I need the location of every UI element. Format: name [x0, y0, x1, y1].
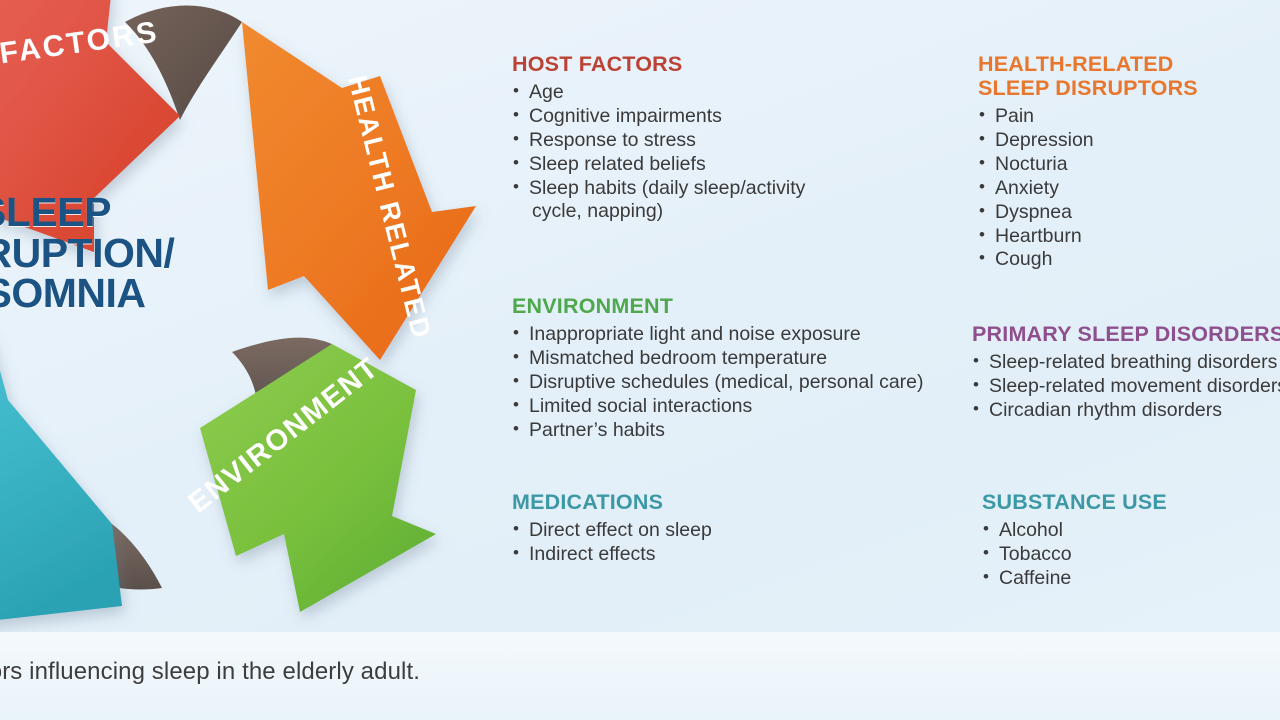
section-health-related-sleep-disruptors: HEALTH-RELATED SLEEP DISRUPTORS Pain Dep…	[978, 52, 1198, 272]
section-heading-substance-use: SUBSTANCE USE	[982, 490, 1167, 514]
figure-caption: tors influencing sleep in the elderly ad…	[0, 658, 420, 686]
list-item: Tobacco	[982, 543, 1167, 567]
sleep-cycle-diagram: HOST FACTORS HEALTH RELATED ENVIRONMENT …	[0, 0, 520, 660]
list-item: Alcohol	[982, 519, 1167, 543]
list-item: Pain	[978, 105, 1198, 129]
list-item: Cough	[978, 248, 1198, 272]
list-item: Partner’s habits	[512, 419, 924, 443]
arrow-medications	[0, 334, 122, 640]
list-item: Sleep-related movement disorders	[972, 375, 1280, 399]
center-title-line-2: DISRUPTION/	[0, 233, 210, 274]
list-item: Disruptive schedules (medical, personal …	[512, 371, 924, 395]
heading-line-2: SLEEP DISRUPTORS	[978, 76, 1198, 100]
list-item: Caffeine	[982, 567, 1167, 591]
list-item: Depression	[978, 129, 1198, 153]
list-substance-use: Alcohol Tobacco Caffeine	[982, 519, 1167, 591]
list-item: Sleep related beliefs	[512, 153, 805, 177]
list-health-related: Pain Depression Nocturia Anxiety Dyspnea…	[978, 105, 1198, 272]
list-item: Inappropriate light and noise exposure	[512, 323, 924, 347]
section-environment: ENVIRONMENT Inappropriate light and nois…	[512, 294, 924, 442]
list-item: Direct effect on sleep	[512, 519, 712, 543]
list-item: Heartburn	[978, 225, 1198, 249]
section-heading-medications: MEDICATIONS	[512, 490, 712, 514]
section-heading-environment: ENVIRONMENT	[512, 294, 924, 318]
list-item-continuation: cycle, napping)	[529, 200, 805, 224]
list-item: Nocturia	[978, 153, 1198, 177]
center-title-line-3: INSOMNIA	[0, 273, 210, 314]
list-item: Circadian rhythm disorders	[972, 399, 1280, 423]
list-host-factors: Age Cognitive impairments Response to st…	[512, 81, 805, 224]
list-item: Cognitive impairments	[512, 105, 805, 129]
section-primary-sleep-disorders: PRIMARY SLEEP DISORDERS Sleep-related br…	[972, 322, 1280, 423]
list-primary-sleep-disorders: Sleep-related breathing disorders Sleep-…	[972, 351, 1280, 423]
heading-line-1: HEALTH-RELATED	[978, 52, 1173, 76]
list-item: Sleep-related breathing disorders	[972, 351, 1280, 375]
list-item: Mismatched bedroom temperature	[512, 347, 924, 371]
list-item: Response to stress	[512, 129, 805, 153]
section-heading-primary-sleep-disorders: PRIMARY SLEEP DISORDERS	[972, 322, 1280, 346]
arrow-health-related	[242, 22, 476, 360]
list-medications: Direct effect on sleep Indirect effects	[512, 519, 712, 567]
section-medications: MEDICATIONS Direct effect on sleep Indir…	[512, 490, 712, 567]
section-substance-use: SUBSTANCE USE Alcohol Tobacco Caffeine	[982, 490, 1167, 591]
list-item: Limited social interactions	[512, 395, 924, 419]
center-title: SLEEP DISRUPTION/ INSOMNIA	[0, 192, 210, 314]
section-host-factors: HOST FACTORS Age Cognitive impairments R…	[512, 52, 805, 224]
section-heading-health-related: HEALTH-RELATED SLEEP DISRUPTORS	[978, 52, 1198, 100]
center-title-line-1: SLEEP	[0, 192, 210, 233]
list-item: Sleep habits (daily sleep/activity cycle…	[512, 177, 805, 225]
section-heading-host-factors: HOST FACTORS	[512, 52, 805, 76]
list-item: Dyspnea	[978, 201, 1198, 225]
list-item: Age	[512, 81, 805, 105]
list-item: Indirect effects	[512, 543, 712, 567]
infographic-page: HOST FACTORS HEALTH RELATED ENVIRONMENT …	[0, 0, 1280, 720]
list-environment: Inappropriate light and noise exposure M…	[512, 323, 924, 442]
list-item: Anxiety	[978, 177, 1198, 201]
